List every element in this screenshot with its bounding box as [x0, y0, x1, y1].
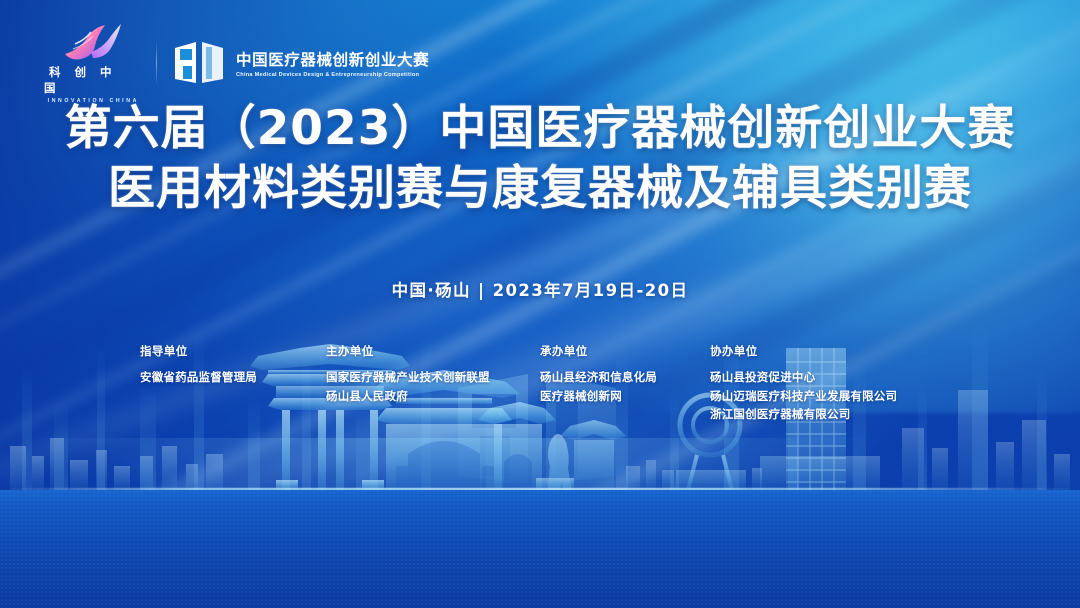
organizer-heading: 指导单位	[140, 343, 326, 359]
organizer-item: 砀山县经济和信息化局	[540, 368, 710, 387]
organizer-item: 砀山县投资促进中心	[710, 368, 970, 387]
organizer-item: 医疗器械创新网	[540, 387, 710, 406]
page-title-line1: 第六届（2023）中国医疗器械创新创业大赛	[0, 104, 1080, 154]
competition-en-label: China Medical Devices Design & Entrepren…	[236, 72, 429, 78]
organizer-item: 砀山县人民政府	[326, 387, 540, 406]
innovation-china-cn-label: 科 创 中 国	[44, 64, 140, 96]
organizer-heading: 承办单位	[540, 343, 710, 359]
header-logo-row: 科 创 中 国 INNOVATION CHINA 中国医疗器械创新创业大赛 Ch…	[44, 22, 429, 104]
date-location-text: 中国·砀山 | 2023年7月19日-20日	[392, 281, 689, 300]
phoenix-ribbon-mark-icon	[61, 22, 123, 62]
title-block: 第六届（2023）中国医疗器械创新创业大赛 医用材料类别赛与康复器械及辅具类别赛	[0, 104, 1080, 214]
organizer-heading: 主办单位	[326, 343, 540, 359]
competition-cn-label: 中国医疗器械创新创业大赛	[236, 48, 429, 70]
organizer-column-guidance: 指导单位 安徽省药品监督管理局	[140, 343, 326, 424]
page-title-line2: 医用材料类别赛与康复器械及辅具类别赛	[0, 164, 1080, 214]
organizer-item: 浙江国创医疗器械有限公司	[710, 405, 970, 424]
logo-competition: 中国医疗器械创新创业大赛 China Medical Devices Desig…	[173, 41, 429, 85]
date-location-bar: 中国·砀山 | 2023年7月19日-20日	[0, 277, 1080, 301]
event-banner: 科 创 中 国 INNOVATION CHINA 中国医疗器械创新创业大赛 Ch…	[0, 0, 1080, 608]
organizer-columns: 指导单位 安徽省药品监督管理局 主办单位 国家医疗器械产业技术创新联盟 砀山县人…	[140, 343, 970, 424]
organizer-column-coorganizer: 协办单位 砀山县投资促进中心 砀山迈瑞医疗科技产业发展有限公司 浙江国创医疗器械…	[710, 343, 970, 424]
ground-reflection	[0, 490, 1080, 608]
organizer-heading: 协办单位	[710, 343, 970, 359]
logo-divider	[156, 41, 157, 85]
logo-innovation-china: 科 创 中 国 INNOVATION CHINA	[44, 22, 140, 104]
organizer-item: 砀山迈瑞医疗科技产业发展有限公司	[710, 387, 970, 406]
organizer-column-host: 主办单位 国家医疗器械产业技术创新联盟 砀山县人民政府	[326, 343, 540, 424]
open-door-book-mark-icon	[173, 41, 225, 85]
organizer-item: 安徽省药品监督管理局	[140, 368, 326, 387]
organizer-item: 国家医疗器械产业技术创新联盟	[326, 368, 540, 387]
organizer-column-undertaker: 承办单位 砀山县经济和信息化局 医疗器械创新网	[540, 343, 710, 424]
